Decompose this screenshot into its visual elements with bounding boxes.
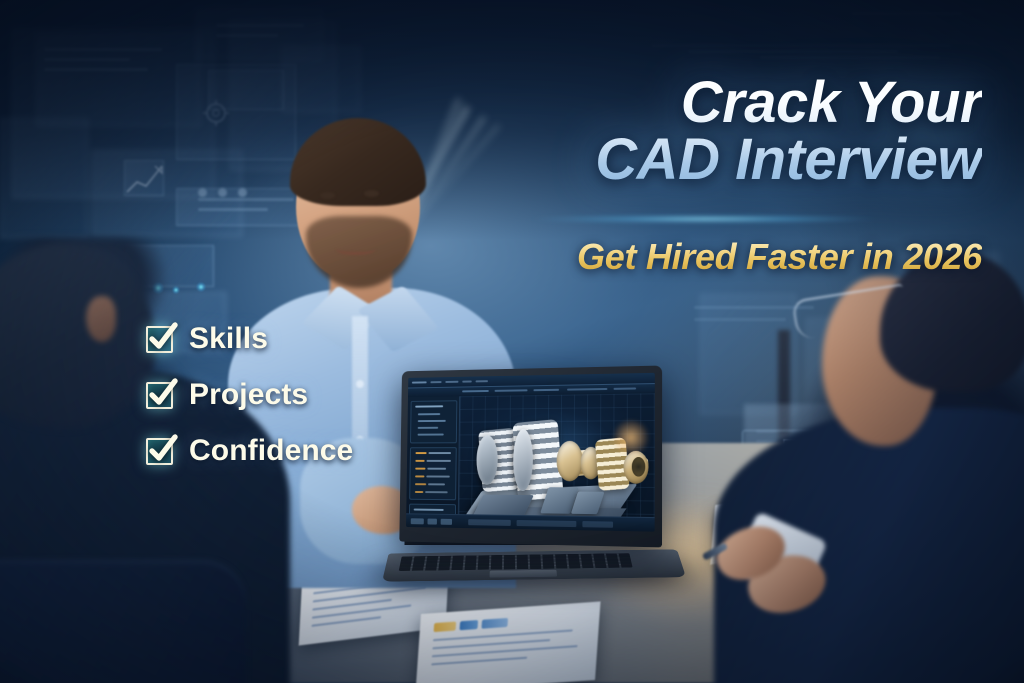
headline: Crack Your CAD Interview	[512, 74, 982, 189]
checklist-label-projects: Projects	[189, 378, 308, 412]
check-icon	[144, 375, 182, 413]
checklist-label-confidence: Confidence	[189, 434, 353, 468]
checklist-item-skills[interactable]: Skills	[146, 311, 353, 367]
subheadline: Get Hired Faster in 2026	[470, 236, 982, 278]
benefits-checklist: Skills Projects Confidence	[146, 311, 353, 479]
checklist-label-skills: Skills	[189, 322, 268, 356]
checkbox-skills[interactable]	[146, 326, 173, 353]
check-icon	[144, 431, 182, 469]
checklist-item-projects[interactable]: Projects	[146, 367, 353, 423]
headline-line-1: Crack Your	[681, 70, 982, 135]
checkbox-projects[interactable]	[146, 382, 173, 409]
checkbox-confidence[interactable]	[146, 438, 173, 465]
headline-line-2: CAD Interview	[512, 131, 982, 188]
check-icon	[144, 319, 182, 357]
headline-light-streak	[470, 214, 940, 224]
poster-canvas: Crack Your CAD Interview Get Hired Faste…	[0, 0, 1024, 683]
checklist-item-confidence[interactable]: Confidence	[146, 423, 353, 479]
